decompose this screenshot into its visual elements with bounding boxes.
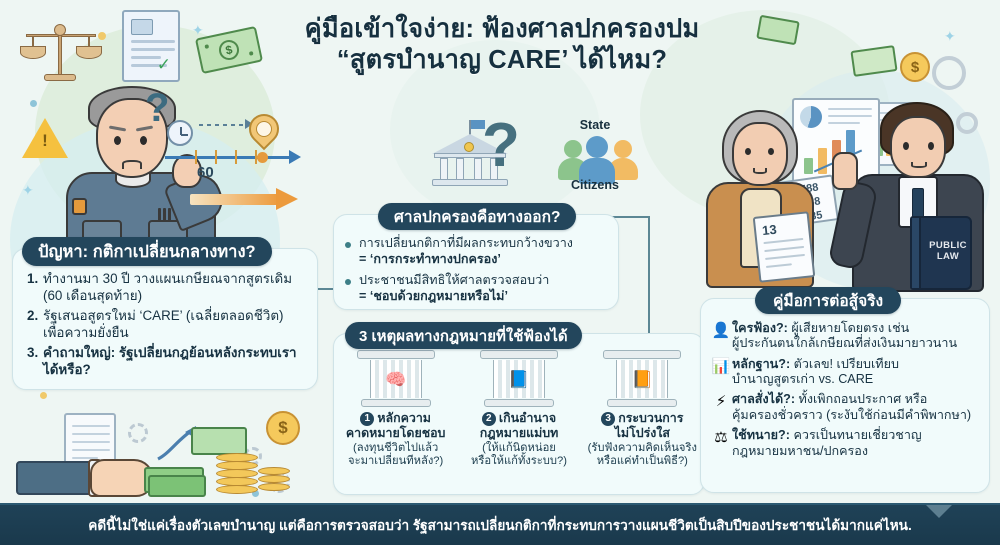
bg-dot-3: [40, 392, 47, 399]
dollar-coin-icon-2: $: [900, 52, 930, 82]
reason-title-3-line1: กระบวนการ: [618, 411, 683, 425]
problem-card-heading: ปัญหา: กติกาเปลี่ยนกลางทาง?: [22, 237, 272, 266]
court-item-1: การเปลี่ยนกติกาที่มีผลกระทบกว้างขวาง = ‘…: [344, 236, 610, 268]
bar-chart-icon: 📊: [710, 357, 732, 375]
pillar-capital-3: [603, 350, 681, 359]
reason-title-1-line2: คาดหมายโดยชอบ: [346, 426, 446, 440]
book-title: PUBLIC LAW: [924, 240, 972, 263]
reason-title-1-line1: หลักความ: [377, 411, 431, 425]
court-item-1-line1: การเปลี่ยนกติกาที่มีผลกระทบกว้างขวาง: [359, 236, 573, 250]
coin-stacks-icon: [216, 453, 294, 499]
problem-item-1-number: 1.: [27, 271, 38, 288]
guide-text-1: ใครฟ้อง?: ผู้เสียหายโดยตรง เช่น ผู้ประกั…: [732, 321, 957, 352]
problem-item-1-text: ทำงานมา 30 ปี วางแผนเกษียณจากสูตรเดิม (6…: [43, 271, 292, 303]
pie-chart-icon: [800, 106, 822, 128]
public-law-book-icon: PUBLIC LAW: [910, 216, 972, 290]
timeline-label-60: 60: [197, 164, 214, 181]
pillar-shaft-1: 🧠: [370, 360, 422, 398]
clock-icon-start: [167, 120, 193, 146]
reason-title-3: 3กระบวนการ ไม่โปร่งใส: [582, 411, 702, 441]
reason-text-2: 2เกินอำนาจ กฎหมายแม่บท (ให้แก้นิดหน่อย ห…: [459, 411, 579, 469]
guide-item-4: ⚖ ใช้ทนาย?: ควรเป็นทนายเชี่ยวชาญ กฎหมายม…: [710, 428, 980, 459]
court-item-1-line2: = ‘การกระทำทางปกครอง’: [359, 252, 501, 266]
bottom-banner: คดีนี้ไม่ใช่แค่เรื่องตัวเลขบำนาญ แต่คือก…: [0, 503, 1000, 545]
document-check-icon: ✓: [122, 10, 180, 82]
guide-item-3: ⚡ ศาลสั่งได้?: ทั้งเพิกถอนประกาศ หรือ คุ…: [710, 392, 980, 423]
guide-key-1: ใครฟ้อง?:: [732, 321, 788, 335]
guide-line1-2: ตัวเลข! เปรียบเทียบ: [790, 357, 899, 371]
court-item-2-line2: = ‘ชอบด้วยกฎหมายหรือไม่’: [359, 289, 508, 303]
problem-item-1: 1. ทำงานมา 30 ปี วางแผนเกษียณจากสูตรเดิม…: [27, 271, 305, 304]
guide-line1-3: ทั้งเพิกถอนประกาศ หรือ: [795, 392, 927, 406]
guide-line2-3: คุ้มครองชั่วคราว (ระงับใช้ก่อนมีคำพิพากษ…: [732, 408, 971, 422]
reason-badge-2: 2: [482, 412, 496, 426]
pension-statement-paper: 13: [753, 211, 816, 282]
reason-sub-1: (ลงทุนชีวิตไปแล้ว จะมาเปลี่ยนทีหลัง?): [336, 442, 456, 469]
reason-badge-3: 3: [601, 412, 615, 426]
reasons-card: 🧠 1หลักความ คาดหมายโดยชอบ (ลงทุนชีวิตไปแ…: [333, 333, 705, 495]
problem-item-2-text: รัฐเสนอสูตรใหม่ ‘CARE’ (เฉลี่ยตลอดชีวิต)…: [43, 308, 284, 340]
problem-item-2-number: 2.: [27, 308, 38, 325]
reason-title-2-line2: กฎหมายแม่บท: [480, 426, 559, 440]
problem-item-2: 2. รัฐเสนอสูตรใหม่ ‘CARE’ (เฉลี่ยตลอดชีว…: [27, 308, 305, 341]
guide-item-1: 👤 ใครฟ้อง?: ผู้เสียหายโดยตรง เช่น ผู้ประ…: [710, 321, 980, 352]
reason-title-2-line1: เกินอำนาจ: [499, 411, 556, 425]
clock-pin-icon: [243, 108, 285, 150]
pillar-shaft-3: 📙: [616, 360, 668, 398]
reason-sub-1-line1: (ลงทุนชีวิตไปแล้ว: [353, 442, 438, 454]
pillar-capital-2: [480, 350, 558, 359]
reason-sub-1-line2: จะมาเปลี่ยนทีหลัง?): [348, 455, 443, 467]
guide-key-3: ศาลสั่งได้?:: [732, 392, 795, 406]
reason-sub-2-line2: หรือให้แก้ทั้งระบบ?): [471, 455, 567, 467]
banknote-icon-2: [191, 427, 247, 455]
infographic-canvas: ✦ ✦ ✦ คู่มือเข้าใจง่าย: ฟ้องศาลปกครองปม …: [0, 0, 1000, 545]
brain-icon: 🧠: [385, 371, 406, 388]
guide-text-2: หลักฐาน?: ตัวเลข! เปรียบเทียบ บำนาญสูตรเ…: [732, 357, 899, 388]
problem-item-3: 3. คำถามใหญ่: รัฐเปลี่ยนกฎย้อนหลังกระทบเ…: [27, 345, 305, 378]
guide-line2-2: บำนาญสูตรเก่า vs. CARE: [732, 372, 873, 386]
gear-icon-4: [932, 56, 966, 90]
reason-title-2: 2เกินอำนาจ กฎหมายแม่บท: [459, 411, 579, 441]
scales-of-justice-icon: [22, 16, 100, 88]
guide-card: 👤 ใครฟ้อง?: ผู้เสียหายโดยตรง เช่น ผู้ประ…: [700, 298, 990, 493]
reason-sub-2-line1: (ให้แก้นิดหน่อย: [482, 442, 556, 454]
sparkle-icon-3: ✦: [944, 28, 956, 45]
question-mark-large: ?: [482, 115, 520, 177]
reason-sub-2: (ให้แก้นิดหน่อย หรือให้แก้ทั้งระบบ?): [459, 442, 579, 469]
reasons-card-heading: 3 เหตุผลทางกฎหมายที่ใช้ฟ้องได้: [345, 322, 582, 349]
pillar-base-3: [607, 399, 677, 407]
title-line-2: “สูตรบำนาญ CARE’ ได้ไหม?: [228, 45, 776, 76]
guide-line1-1: ผู้เสียหายโดยตรง เช่น: [788, 321, 909, 335]
guide-text-4: ใช้ทนาย?: ควรเป็นทนายเชี่ยวชาญ กฎหมายมหา…: [732, 428, 922, 459]
court-item-2: ประชาชนมีสิทธิให้ศาลตรวจสอบว่า = ‘ชอบด้ว…: [344, 273, 610, 305]
court-card-heading: ศาลปกครองคือทางออก?: [378, 203, 576, 230]
pillar-shaft-2: 📘: [493, 360, 545, 398]
reason-title-3-line2: ไม่โปร่งใส: [615, 426, 670, 440]
guide-line2-1: ผู้ประกันตนใกล้เกษียณที่ส่งเงินมายาวนาน: [732, 336, 957, 350]
hand-money-illustration: $: [16, 405, 316, 503]
title-line-1: คู่มือเข้าใจง่าย: ฟ้องศาลปกครองปม: [228, 14, 776, 45]
citizens-label: Citizens: [552, 178, 638, 192]
guide-item-2: 📊 หลักฐาน?: ตัวเลข! เปรียบเทียบ บำนาญสูต…: [710, 357, 980, 388]
reasons-pillars: 🧠 1หลักความ คาดหมายโดยชอบ (ลงทุนชีวิตไปแ…: [334, 350, 704, 496]
page-title: คู่มือเข้าใจง่าย: ฟ้องศาลปกครองปม “สูตรบ…: [228, 14, 776, 76]
pillar-base-2: [484, 399, 554, 407]
reason-badge-1: 1: [360, 412, 374, 426]
reason-sub-3-line2: หรือแค่ทำเป็นพิธี?): [597, 455, 688, 467]
guide-line1-4: ควรเป็นทนายเชี่ยวชาญ: [790, 428, 922, 442]
pillar-base-1: [361, 399, 431, 407]
guide-line2-4: กฎหมายมหาชน/ปกครอง: [732, 444, 868, 458]
person-icon: 👤: [710, 321, 732, 339]
problem-list: 1. ทำงานมา 30 ปี วางแผนเกษียณจากสูตรเดิม…: [27, 271, 305, 379]
banner-text: คดีนี้ไม่ใช่แค่เรื่องตัวเลขบำนาญ แต่คือก…: [74, 514, 925, 536]
reason-pillar-3: 📙 3กระบวนการ ไม่โปร่งใส (รับฟังความคิดเห…: [581, 350, 704, 496]
reason-sub-3: (รับฟังความคิดเห็นจริง หรือแค่ทำเป็นพิธี…: [582, 442, 702, 469]
problem-item-3-text: คำถามใหญ่: รัฐเปลี่ยนกฎย้อนหลังกระทบเราไ…: [43, 345, 297, 377]
retirement-timeline-illustration: 60: [165, 108, 310, 186]
guide-key-4: ใช้ทนาย?:: [732, 428, 790, 442]
reason-pillar-1: 🧠 1หลักความ คาดหมายโดยชอบ (ลงทุนชีวิตไปแ…: [334, 350, 457, 496]
bg-dot-2: [30, 100, 37, 107]
retiree-and-lawyer-illustration: 358838882885 PUBLIC LAW 13: [700, 96, 990, 296]
problem-item-3-number: 3.: [27, 345, 38, 362]
orange-arrow-icon: [190, 188, 300, 210]
reason-text-3: 3กระบวนการ ไม่โปร่งใส (รับฟังความคิดเห็น…: [582, 411, 702, 469]
sparkle-icon-2: ✦: [22, 182, 34, 199]
guide-text-3: ศาลสั่งได้?: ทั้งเพิกถอนประกาศ หรือ คุ้ม…: [732, 392, 971, 423]
scales-icon: ⚖: [710, 428, 732, 446]
gear-icon-1: [128, 423, 148, 443]
court-item-2-line1: ประชาชนมีสิทธิให้ศาลตรวจสอบว่า: [359, 273, 549, 287]
law-book-blue-icon: 📘: [508, 371, 529, 388]
pointing-hand-icon: [832, 152, 858, 190]
state-label: State: [552, 118, 638, 132]
guide-card-heading: คู่มือการต่อสู้จริง: [755, 287, 901, 314]
dollar-coin-icon: $: [266, 411, 300, 445]
reason-title-1: 1หลักความ คาดหมายโดยชอบ: [336, 411, 456, 441]
reason-text-1: 1หลักความ คาดหมายโดยชอบ (ลงทุนชีวิตไปแล้…: [336, 411, 456, 469]
checkmark-icon: ✓: [157, 56, 171, 73]
banner-notch-icon: [926, 505, 952, 518]
law-book-brown-icon: 📙: [632, 371, 653, 388]
paper-number: 13: [761, 222, 777, 238]
court-list: การเปลี่ยนกติกาที่มีผลกระทบกว้างขวาง = ‘…: [344, 236, 610, 304]
problem-card: 1. ทำงานมา 30 ปี วางแผนเกษียณจากสูตรเดิม…: [12, 248, 318, 390]
lightning-icon: ⚡: [710, 392, 732, 410]
guide-key-2: หลักฐาน?:: [732, 357, 790, 371]
pillar-capital-1: [357, 350, 435, 359]
reason-sub-3-line1: (รับฟังความคิดเห็นจริง: [588, 442, 697, 454]
reason-pillar-2: 📘 2เกินอำนาจ กฎหมายแม่บท (ให้แก้นิดหน่อย…: [457, 350, 580, 496]
state-citizens-icon: State Citizens: [552, 118, 638, 192]
